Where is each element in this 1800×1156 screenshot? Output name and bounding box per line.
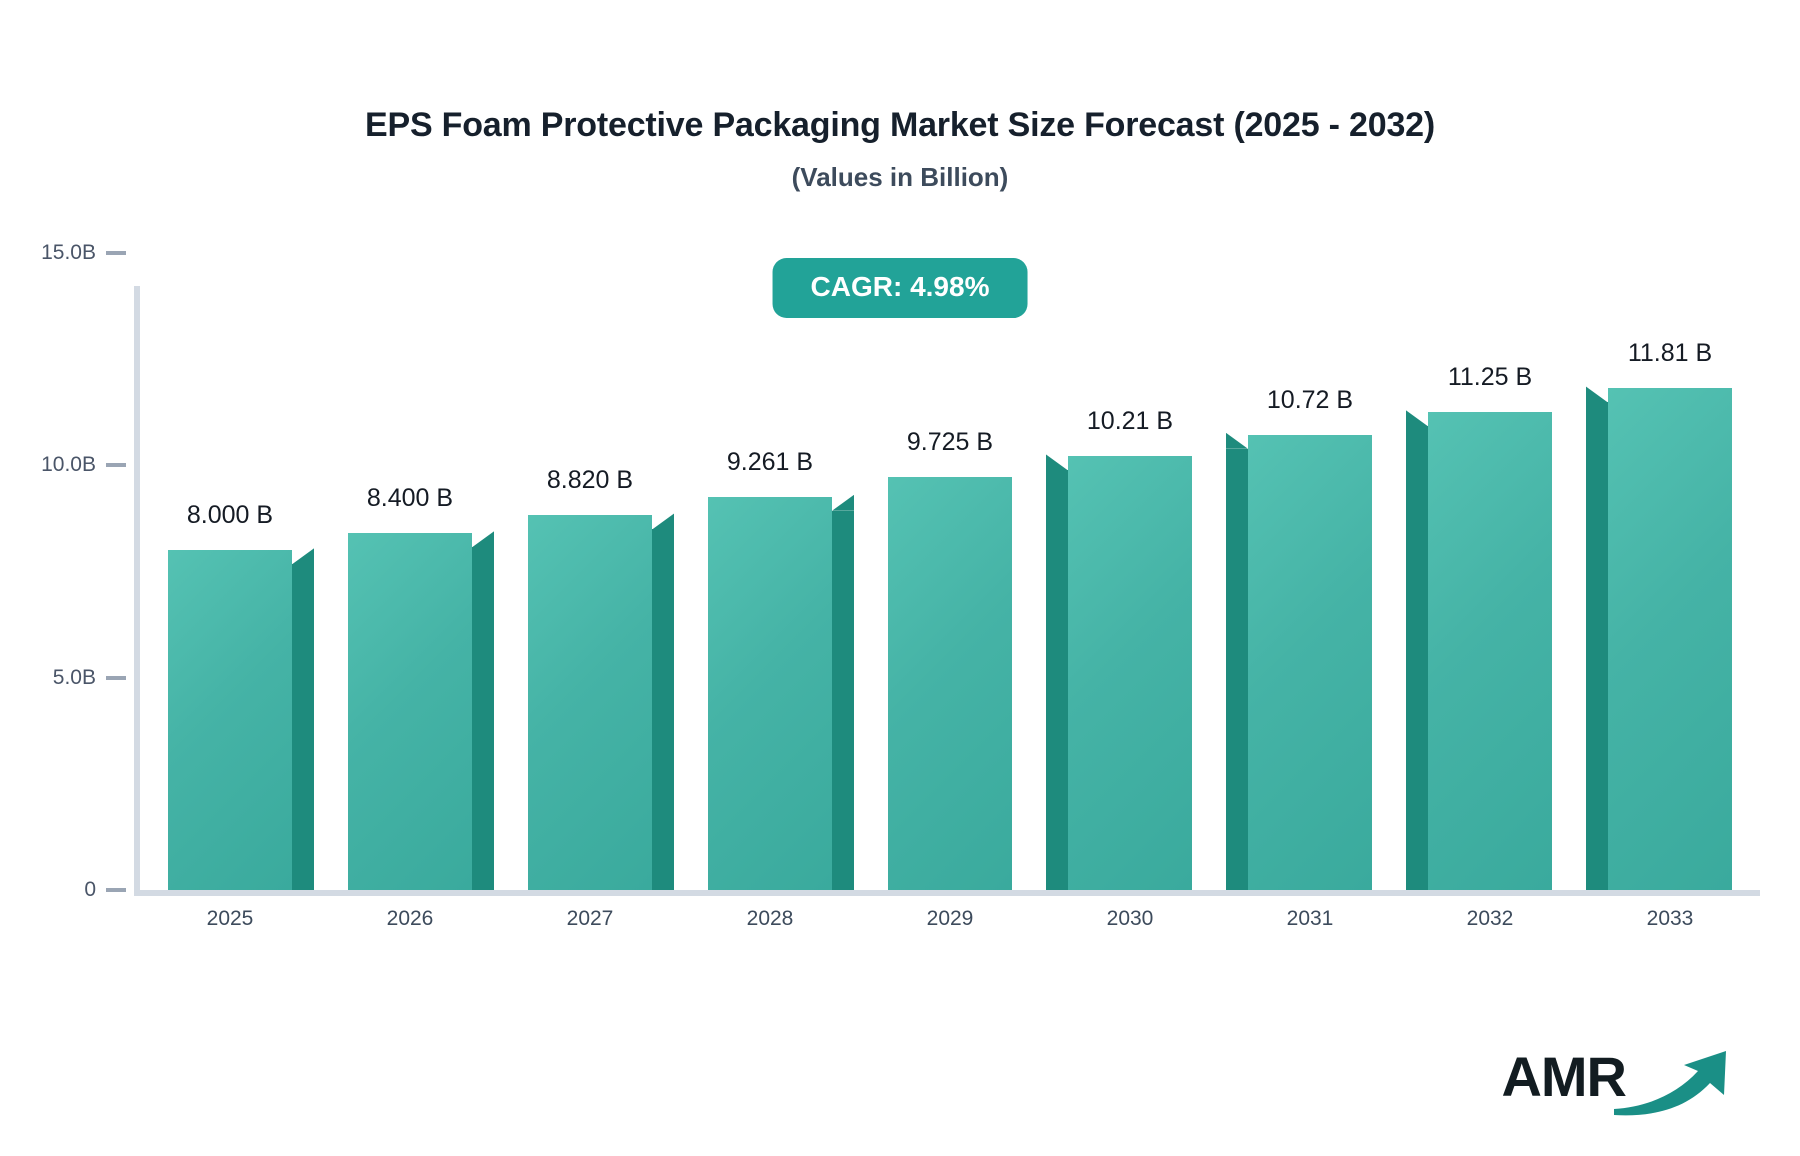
amr-wordmark: AMR bbox=[1501, 1049, 1626, 1105]
bar-group: 10.72 B bbox=[1248, 435, 1372, 890]
x-axis-tick-label: 2027 bbox=[567, 908, 614, 929]
x-axis-tick-label: 2026 bbox=[387, 908, 434, 929]
bar-group: 11.81 B bbox=[1608, 388, 1732, 890]
bar-side-face bbox=[1226, 449, 1248, 890]
y-axis-tick-label: 5.0B bbox=[0, 667, 96, 688]
bar-group: 9.261 B bbox=[708, 497, 832, 890]
y-axis-tick-mark bbox=[106, 251, 126, 255]
x-axis-tick-label: 2033 bbox=[1647, 908, 1694, 929]
y-axis-tick-label: 15.0B bbox=[0, 242, 96, 263]
y-axis-tick-mark bbox=[106, 676, 126, 680]
x-axis-tick-label: 2030 bbox=[1107, 908, 1154, 929]
bar-group: 10.21 B bbox=[1068, 456, 1192, 890]
bar-group: 11.25 B bbox=[1428, 412, 1552, 890]
bar-2025[interactable] bbox=[168, 550, 292, 890]
amr-logo: AMR bbox=[1501, 1031, 1742, 1122]
bar-side-face bbox=[1586, 402, 1608, 890]
bar-value-label: 11.81 B bbox=[1628, 341, 1712, 366]
bar-side-face bbox=[832, 511, 854, 890]
bar-2029[interactable] bbox=[888, 477, 1012, 890]
bar-group: 8.000 B bbox=[168, 550, 292, 890]
y-axis-tick-label: 0 bbox=[0, 879, 96, 900]
bar-value-label: 9.261 B bbox=[727, 450, 813, 475]
bar-top-bevel bbox=[832, 495, 854, 511]
bar-top-bevel bbox=[1586, 386, 1608, 402]
bar-value-label: 8.400 B bbox=[367, 486, 453, 511]
bar-group: 8.820 B bbox=[528, 515, 652, 890]
bar-top-bevel bbox=[472, 531, 494, 547]
bar-side-face bbox=[472, 547, 494, 890]
bar-2032[interactable] bbox=[1428, 412, 1552, 890]
bar-2031[interactable] bbox=[1248, 435, 1372, 890]
bar-2028[interactable] bbox=[708, 497, 832, 890]
x-axis-tick-label: 2032 bbox=[1467, 908, 1514, 929]
x-axis-tick-label: 2028 bbox=[747, 908, 794, 929]
bar-value-label: 10.72 B bbox=[1267, 388, 1353, 413]
bar-2030[interactable] bbox=[1068, 456, 1192, 890]
bar-side-face bbox=[652, 529, 674, 890]
y-axis-tick-mark bbox=[106, 888, 126, 892]
bar-2033[interactable] bbox=[1608, 388, 1732, 890]
x-axis-line bbox=[134, 890, 1760, 896]
bar-value-label: 8.000 B bbox=[187, 503, 273, 528]
bar-top-bevel bbox=[292, 548, 314, 564]
bar-group: 8.400 B bbox=[348, 533, 472, 890]
bar-2026[interactable] bbox=[348, 533, 472, 890]
bar-side-face bbox=[1046, 470, 1068, 890]
chart-plot-area: 15.0B10.0B5.0B0 20258.000 B20268.400 B20… bbox=[0, 0, 1800, 1156]
x-axis-tick-label: 2029 bbox=[927, 908, 974, 929]
bar-value-label: 8.820 B bbox=[547, 468, 633, 493]
growth-arrow-icon bbox=[1626, 1031, 1742, 1122]
bar-top-bevel bbox=[652, 513, 674, 529]
y-axis-tick-label: 10.0B bbox=[0, 454, 96, 475]
bar-value-label: 11.25 B bbox=[1448, 365, 1532, 390]
bar-top-bevel bbox=[1046, 454, 1068, 470]
bar-side-face bbox=[292, 564, 314, 890]
bar-top-bevel bbox=[1406, 410, 1428, 426]
x-axis-tick-label: 2031 bbox=[1287, 908, 1334, 929]
bar-side-face bbox=[1406, 426, 1428, 890]
bar-group: 9.725 B bbox=[888, 477, 1012, 890]
bar-value-label: 9.725 B bbox=[907, 430, 993, 455]
bar-top-bevel bbox=[1226, 433, 1248, 449]
y-axis-tick-mark bbox=[106, 463, 126, 467]
y-axis-line bbox=[134, 286, 140, 894]
x-axis-tick-label: 2025 bbox=[207, 908, 254, 929]
bar-value-label: 10.21 B bbox=[1087, 409, 1173, 434]
bar-2027[interactable] bbox=[528, 515, 652, 890]
